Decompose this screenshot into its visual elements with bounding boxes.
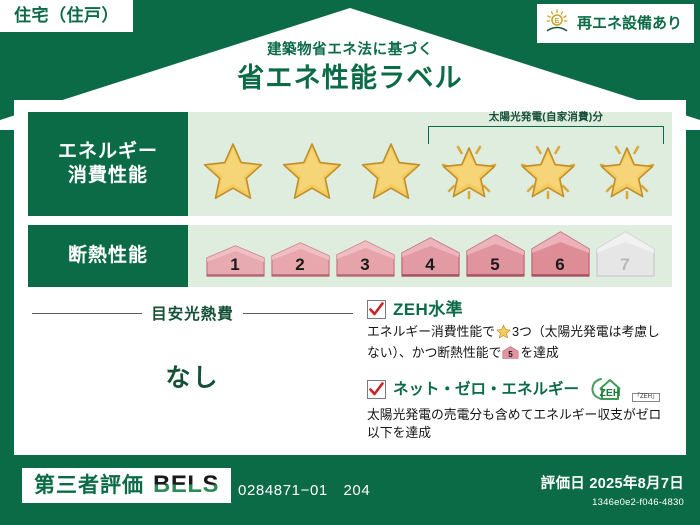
zeh-standard-title: ZEH水準: [393, 301, 463, 318]
insulation-level-scale: 1 2: [194, 229, 666, 282]
zeh-desc-part1: エネルギー消費性能で: [367, 324, 495, 339]
insulation-level-1: 1: [204, 243, 267, 279]
evaluation-date-label: 評価日: [541, 476, 585, 492]
rule-right: [243, 313, 353, 314]
energy-performance-row: エネルギー 消費性能 太陽光発電(自家消費)分: [28, 112, 672, 216]
star-icon: [274, 136, 350, 206]
star-icon: [353, 136, 429, 206]
achievement-checks: ZEH水準 エネルギー消費性能で3つ（太陽光発電は考慮しない）、かつ断熱性能で5…: [361, 296, 672, 472]
net-zero-energy-checkbox[interactable]: [367, 380, 386, 399]
solar-bracket-label: 太陽光発電(自家消費)分: [428, 112, 664, 123]
title-subtitle: 建築物省エネ法に基づく: [0, 42, 700, 59]
zeh-desc-part3: を達成: [520, 345, 558, 360]
insulation-level-5: 5: [464, 232, 527, 279]
energy-label-line1: エネルギー: [58, 140, 158, 164]
panel-bottom-section: 目安光熱費 なし ZEH水準 エネ: [28, 296, 672, 472]
bels-badge: 第三者評価 BELS: [22, 468, 231, 503]
zeh-standard-header: ZEH水準: [367, 300, 672, 319]
svg-text:E: E: [555, 18, 560, 25]
rule-left: [32, 313, 142, 314]
evaluation-id: 1346e0e2-f046-4830: [592, 498, 684, 508]
insulation-rating-area: 1 2: [188, 225, 672, 287]
svg-text:ZEH: ZEH: [600, 387, 621, 399]
renewable-badge-label: 再エネ設備あり: [577, 16, 682, 31]
housing-type-badge: 住宅（住戸）: [0, 0, 133, 32]
svg-text:5: 5: [509, 350, 514, 359]
label-footer: 第三者評価 BELS 0284871−01 204 評価日 2025年8月7日 …: [0, 455, 700, 525]
net-zero-energy-check: ネット・ゼロ・エネルギー ZEH 「ZEH」 太陽光発電の売電分も含めてエネルギ…: [367, 376, 672, 442]
star-rating: [194, 136, 666, 210]
utility-cost-value: なし: [32, 358, 353, 394]
insulation-level-3: 3: [334, 238, 397, 279]
zeh-logo-icon: ZEH: [590, 376, 630, 402]
insulation-performance-label: 断熱性能: [28, 225, 188, 287]
bels-logo-text: BELS: [153, 473, 219, 497]
evaluation-date-value: 2025年8月7日: [589, 476, 684, 492]
main-panel: エネルギー 消費性能 太陽光発電(自家消費)分: [14, 100, 686, 455]
zeh-standard-description: エネルギー消費性能で3つ（太陽光発電は考慮しない）、かつ断熱性能で5を達成: [367, 323, 672, 365]
insulation-level-6: 6: [529, 229, 592, 279]
check-icon: [369, 382, 384, 397]
zeh-logo-trademark: 「ZEH」: [632, 393, 660, 403]
solar-sun-icon: E: [544, 8, 570, 39]
label-title: 建築物省エネ法に基づく 省エネ性能ラベル: [0, 42, 700, 94]
energy-label-line2: 消費性能: [68, 164, 148, 188]
net-zero-energy-header: ネット・ゼロ・エネルギー ZEH 「ZEH」: [367, 376, 672, 402]
insulation-level-2: 2: [269, 240, 332, 279]
star-solar-icon: [431, 136, 507, 206]
third-party-label: 第三者評価: [34, 475, 144, 496]
star-icon: [496, 324, 511, 344]
zeh-standard-checkbox[interactable]: [367, 300, 386, 319]
utility-cost-heading: 目安光熱費: [32, 302, 353, 324]
net-zero-energy-description: 太陽光発電の売電分も含めてエネルギー収支がゼロ以下を達成: [367, 406, 672, 442]
utility-cost-label: 目安光熱費: [151, 302, 234, 324]
star-solar-icon: [510, 136, 586, 206]
renewable-equipment-badge: E 再エネ設備あり: [537, 4, 694, 43]
utility-cost-section: 目安光熱費 なし: [28, 296, 361, 472]
title-main: 省エネ性能ラベル: [0, 63, 700, 94]
insulation-performance-row: 断熱性能 1: [28, 225, 672, 287]
insulation-level-4: 4: [399, 235, 462, 279]
star-solar-icon: [589, 136, 665, 206]
insulation-level-7: 7: [594, 229, 657, 279]
evaluation-date: 評価日 2025年8月7日: [541, 477, 684, 492]
insulation-label-text: 断熱性能: [68, 244, 148, 268]
check-icon: [369, 302, 384, 317]
energy-rating-area: 太陽光発電(自家消費)分: [188, 112, 672, 216]
registration-number: 0284871−01 204: [238, 483, 370, 498]
house-5-icon: 5: [502, 345, 519, 365]
star-icon: [195, 136, 271, 206]
zeh-house-logo: ZEH 「ZEH」: [590, 376, 660, 402]
energy-performance-label: エネルギー 消費性能: [28, 112, 188, 216]
net-zero-energy-title: ネット・ゼロ・エネルギー: [393, 382, 579, 398]
zeh-standard-check: ZEH水準 エネルギー消費性能で3つ（太陽光発電は考慮しない）、かつ断熱性能で5…: [367, 300, 672, 365]
bels-energy-label: 住宅（住戸） E 再エネ設備あり 建築物省エネ法に基づく 省エネ: [0, 0, 700, 525]
